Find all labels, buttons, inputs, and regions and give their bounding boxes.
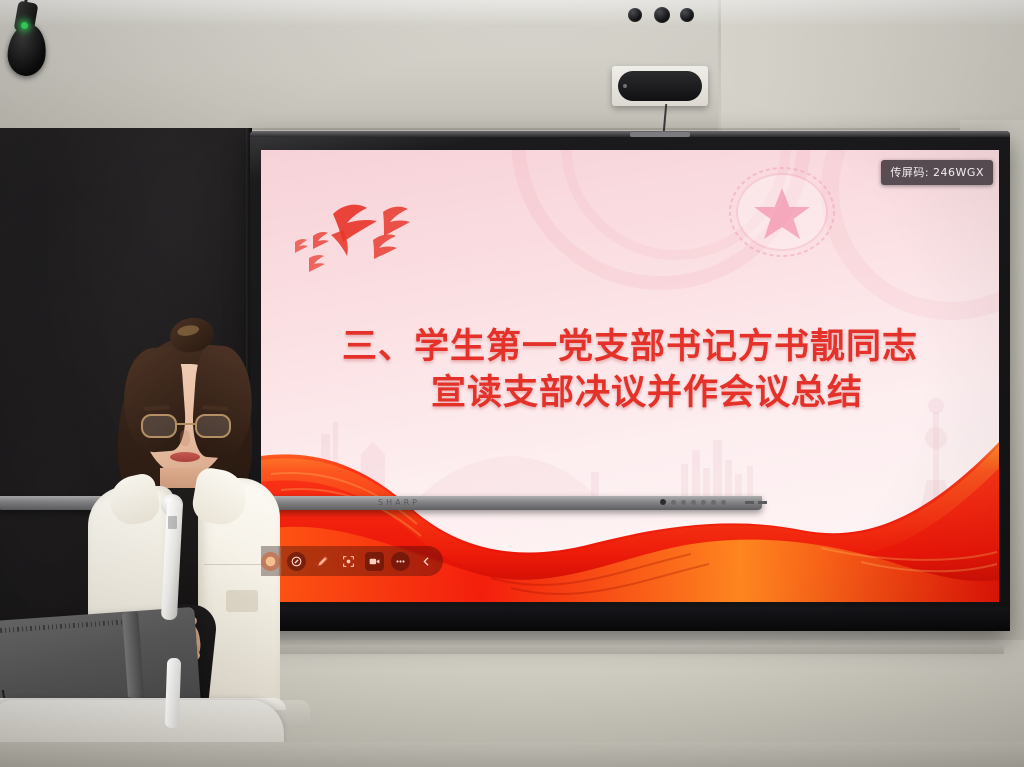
- display-bottom-bezel: [250, 607, 1010, 631]
- palette-icon[interactable]: [261, 552, 280, 571]
- control-key[interactable]: [691, 500, 696, 505]
- port-slot: [745, 501, 754, 504]
- flying-doves-icon: [287, 190, 437, 280]
- gear-ring-star-emblem-icon: [716, 158, 848, 270]
- control-key[interactable]: [701, 500, 706, 505]
- interactive-flat-panel[interactable]: 三、学生第一党支部书记方书靓同志 宣读支部决议并作会议总结: [250, 131, 1010, 631]
- more-options-icon[interactable]: [391, 552, 410, 571]
- camera-lens-icon: [654, 7, 670, 23]
- slide-title-line-1: 三、学生第一党支部书记方书靓同志: [261, 325, 999, 371]
- wall-camera-bar: [618, 71, 702, 101]
- microphone-led-indicator: [21, 22, 28, 29]
- glasses-bridge: [177, 423, 195, 425]
- control-key[interactable]: [681, 500, 686, 505]
- display-brand-label: SHARP: [378, 498, 420, 507]
- control-key[interactable]: [711, 500, 716, 505]
- display-top-notch: [630, 132, 690, 137]
- collapse-chevron-icon[interactable]: [417, 552, 436, 571]
- nose: [180, 430, 190, 446]
- display-soundbar: [256, 645, 1004, 654]
- video-camera-icon[interactable]: [365, 552, 384, 571]
- slide-title: 三、学生第一党支部书记方书靓同志 宣读支部决议并作会议总结: [261, 325, 999, 416]
- ceiling-highlight: [0, 0, 1024, 26]
- display-screen[interactable]: 三、学生第一党支部书记方书靓同志 宣读支部决议并作会议总结: [261, 150, 999, 602]
- handheld-microphone-label: [168, 516, 177, 529]
- display-control-keys[interactable]: [660, 499, 726, 505]
- control-key[interactable]: [671, 500, 676, 505]
- photo-scene: 三、学生第一党支部书记方书靓同志 宣读支部决议并作会议总结: [0, 0, 1024, 767]
- glasses-lens-left: [141, 414, 177, 438]
- vest-pocket: [226, 590, 258, 612]
- lips: [170, 452, 200, 462]
- pen-icon[interactable]: [313, 552, 332, 571]
- camera-status-dot: [623, 84, 627, 88]
- display-ports: [745, 501, 767, 504]
- slide-title-line-2: 宣读支部决议并作会议总结: [261, 371, 999, 417]
- capture-frame-icon[interactable]: [339, 552, 358, 571]
- floor: [0, 742, 1024, 767]
- port-slot: [758, 501, 767, 504]
- power-key[interactable]: [660, 499, 666, 505]
- control-key[interactable]: [721, 500, 726, 505]
- camera-lens-icon: [628, 8, 642, 22]
- screencast-code-badge: 传屏码: 246WGX: [881, 160, 993, 185]
- eraser-icon[interactable]: [287, 552, 306, 571]
- handheld-microphone-handle: [165, 658, 181, 728]
- glasses-lens-right: [195, 414, 231, 438]
- annotation-toolbar[interactable]: [261, 546, 443, 576]
- camera-lens-icon: [680, 8, 694, 22]
